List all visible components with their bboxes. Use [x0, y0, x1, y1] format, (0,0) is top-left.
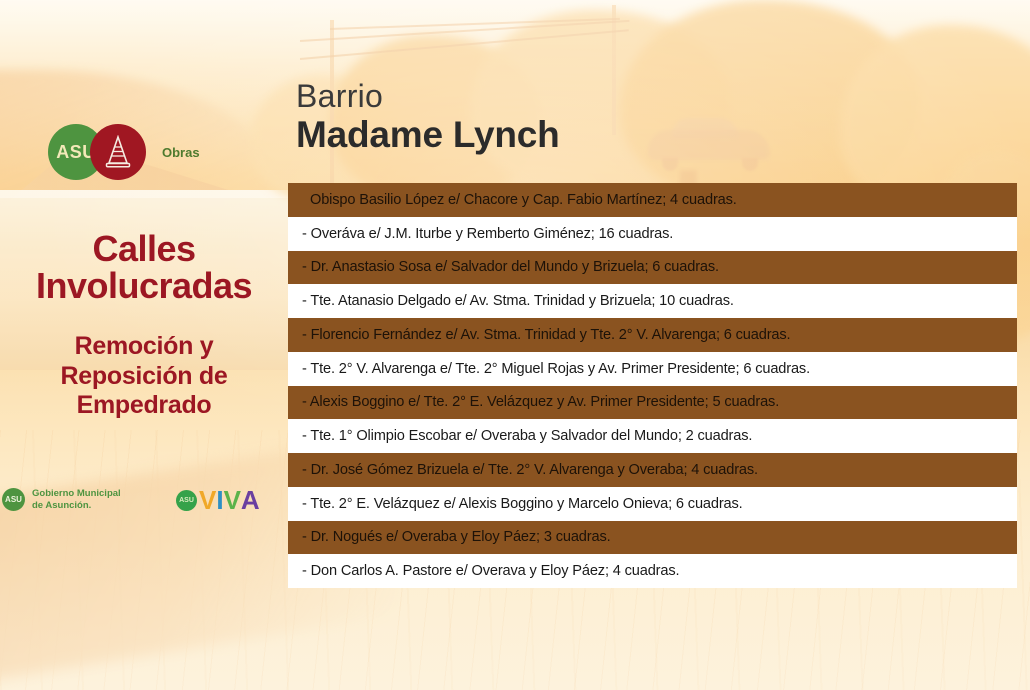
footer-logos: ASU Gobierno Municipal de Asunción. ASU …	[0, 488, 288, 528]
street-list-panel: Obispo Basilio López e/ Chacore y Cap. F…	[288, 183, 1017, 588]
headline-line-1: Calles	[0, 230, 288, 267]
gov-line-2: de Asunción.	[32, 500, 121, 512]
headline-main: Calles Involucradas	[0, 230, 288, 304]
headline-block: Calles Involucradas Remoción y Reposició…	[0, 230, 288, 421]
viva-letter-v2: V	[224, 487, 241, 513]
traffic-cone-icon	[90, 124, 146, 180]
viva-letter-i: I	[216, 487, 223, 513]
street-row: - Tte. Atanasio Delgado e/ Av. Stma. Tri…	[288, 284, 1017, 318]
headline-subtitle: Remoción y Reposición de Empedrado	[0, 332, 288, 421]
asu-badge-label: ASU	[5, 495, 22, 504]
asu-badge-icon: ASU	[2, 488, 25, 511]
title-prefix: Barrio	[296, 80, 560, 114]
page-title: Barrio Madame Lynch	[296, 80, 560, 155]
street-row: Obispo Basilio López e/ Chacore y Cap. F…	[288, 183, 1017, 217]
headline-sub-line-3: Empedrado	[0, 391, 288, 421]
viva-asu-badge-icon: ASU	[176, 490, 197, 511]
title-neighborhood-name: Madame Lynch	[296, 115, 560, 155]
street-row: - Overáva e/ J.M. Iturbe y Remberto Gimé…	[288, 217, 1017, 251]
left-panel: ASU Obras Calles Involucradas Remoción y…	[0, 0, 288, 690]
street-row: - Florencio Fernández e/ Av. Stma. Trini…	[288, 318, 1017, 352]
viva-logo: ASU V I V A	[176, 487, 260, 513]
headline-sub-line-2: Reposición de	[0, 362, 288, 392]
headline-line-2: Involucradas	[0, 267, 288, 304]
gov-line-1: Gobierno Municipal	[32, 488, 121, 500]
brand-logo: ASU Obras	[48, 124, 200, 180]
viva-badge-label: ASU	[179, 497, 194, 504]
viva-letter-v1: V	[199, 487, 216, 513]
street-row: - Dr. Nogués e/ Overaba y Eloy Páez; 3 c…	[288, 521, 1017, 555]
street-row: - Tte. 2° E. Velázquez e/ Alexis Boggino…	[288, 487, 1017, 521]
obras-label: Obras	[162, 145, 200, 160]
street-row: - Dr. Anastasio Sosa e/ Salvador del Mun…	[288, 251, 1017, 285]
gobierno-municipal-text: Gobierno Municipal de Asunción.	[32, 488, 121, 512]
headline-sub-line-1: Remoción y	[0, 332, 288, 362]
street-row: - Alexis Boggino e/ Tte. 2° E. Velázquez…	[288, 386, 1017, 420]
gobierno-municipal-logo: ASU Gobierno Municipal de Asunción.	[2, 488, 121, 512]
street-row: - Tte. 1° Olimpio Escobar e/ Overaba y S…	[288, 419, 1017, 453]
street-row: - Don Carlos A. Pastore e/ Overava y Elo…	[288, 554, 1017, 588]
viva-letter-a: A	[241, 487, 260, 513]
street-row: - Tte. 2° V. Alvarenga e/ Tte. 2° Miguel…	[288, 352, 1017, 386]
street-row: - Dr. José Gómez Brizuela e/ Tte. 2° V. …	[288, 453, 1017, 487]
